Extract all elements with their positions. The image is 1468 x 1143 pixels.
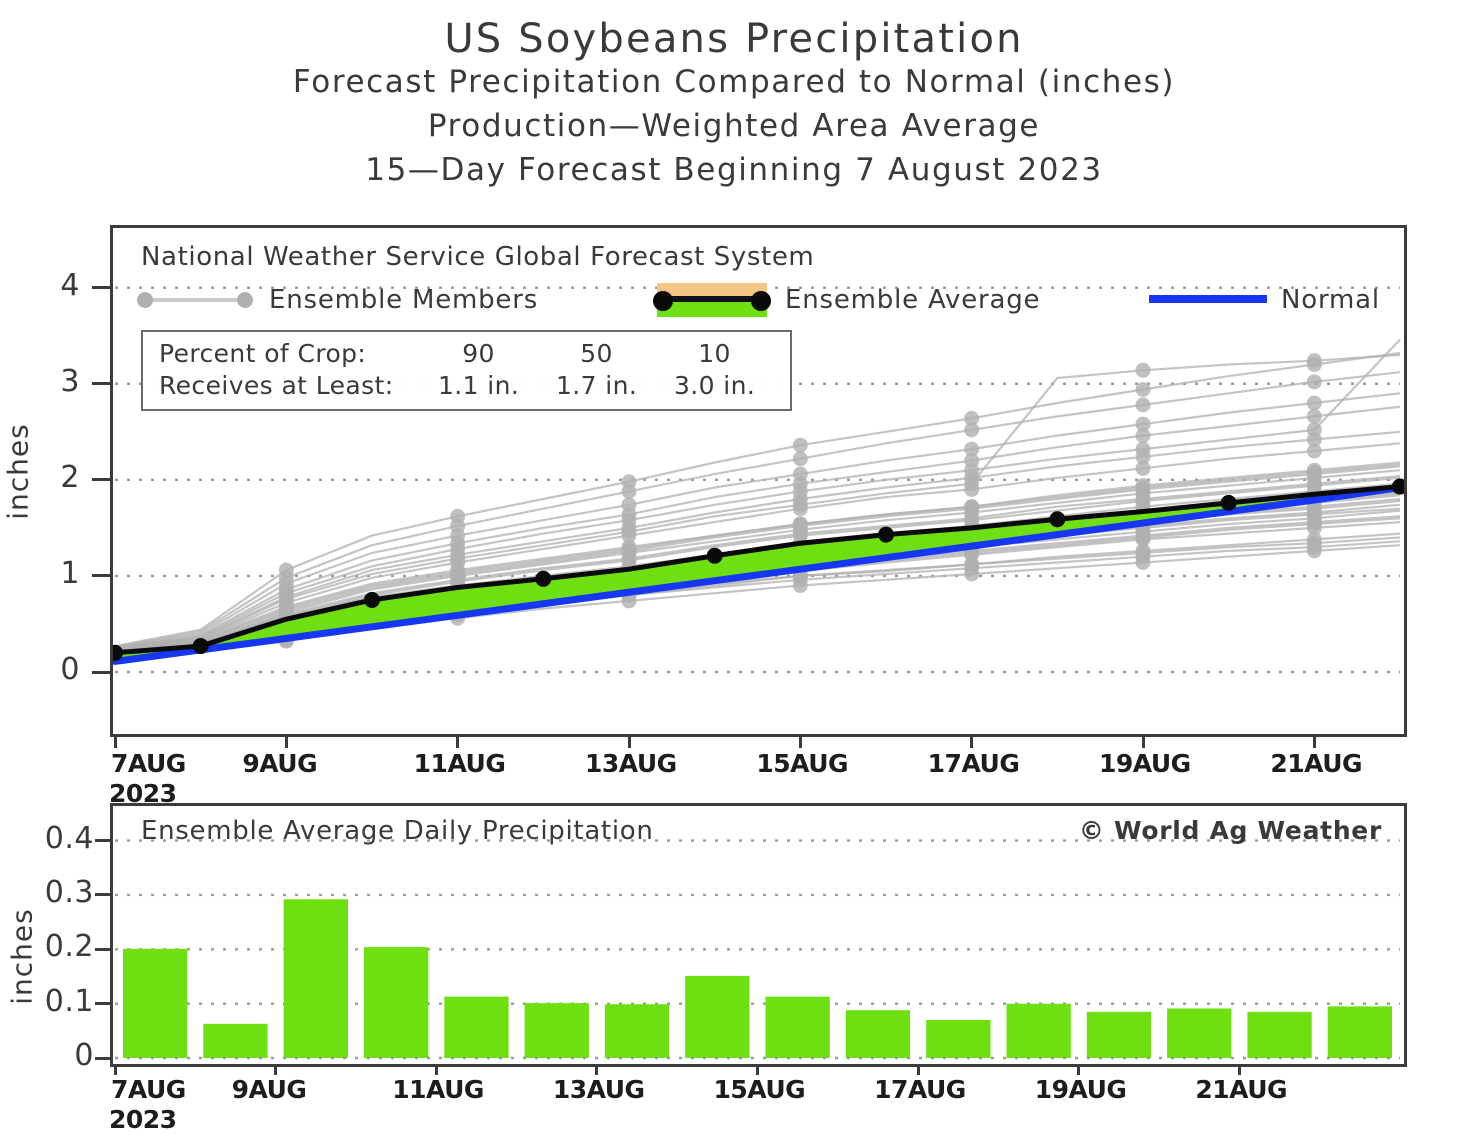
legend-source-label: National Weather Service Global Forecast… — [141, 242, 814, 272]
legend-label-normal: Normal — [1281, 285, 1380, 315]
legend-label-ensemble-average: Ensemble Average — [785, 285, 1040, 315]
top-y-tick-label: 4 — [24, 268, 80, 303]
top-x-tick-label: 11AUG — [414, 749, 506, 778]
percent-value-2: 10 — [656, 338, 774, 370]
daily-precipitation-chart: Ensemble Average Daily Precipitation © W… — [110, 803, 1407, 1067]
subtitle-line-2: Production—Weighted Area Average — [0, 104, 1468, 148]
copyright-credit: © World Ag Weather — [1079, 816, 1382, 845]
top-y-tick-mark — [92, 671, 110, 674]
percent-value-1: 50 — [538, 338, 656, 370]
bottom-y-tick-label: 0.4 — [2, 821, 94, 856]
bottom-chart-title: Ensemble Average Daily Precipitation — [141, 816, 654, 846]
page-title: US Soybeans Precipitation — [0, 18, 1468, 60]
bottom-y-tick-label: 0 — [2, 1038, 94, 1073]
amount-value-0: 1.1 in. — [420, 370, 538, 402]
bottom-x-tick-label: 19AUG — [1035, 1075, 1127, 1104]
top-x-tick-label: 7AUG — [111, 749, 186, 778]
bottom-y-tick-label: 0.2 — [2, 929, 94, 964]
normal-line-icon — [1149, 295, 1267, 305]
ensemble-members-line-icon — [137, 288, 255, 312]
top-y-tick-label: 1 — [24, 556, 80, 591]
bottom-x-tick-label: 17AUG — [874, 1075, 966, 1104]
bottom-x-tick-label: 11AUG — [392, 1075, 484, 1104]
bottom-x-axis-year-label: 2023 — [109, 1105, 177, 1134]
bottom-x-tick-label: 7AUG — [111, 1075, 186, 1104]
bottom-y-tick-label: 0.1 — [2, 984, 94, 1019]
chart-title-block: US Soybeans Precipitation Forecast Preci… — [0, 0, 1468, 192]
bottom-y-tick-label: 0.3 — [2, 875, 94, 910]
top-y-tick-label: 2 — [24, 460, 80, 495]
bottom-y-tick-mark — [95, 1057, 110, 1060]
amount-value-2: 3.0 in. — [656, 370, 774, 402]
top-x-tick-label: 9AUG — [242, 749, 317, 778]
bottom-x-tick-label: 21AUG — [1195, 1075, 1287, 1104]
bottom-x-tick-label: 15AUG — [714, 1075, 806, 1104]
top-y-tick-mark — [92, 574, 110, 577]
top-y-tick-mark — [92, 286, 110, 289]
top-y-tick-label: 3 — [24, 364, 80, 399]
legend-label-ensemble-members: Ensemble Members — [269, 285, 538, 315]
top-x-tick-label: 13AUG — [585, 749, 677, 778]
top-x-tick-label: 15AUG — [756, 749, 848, 778]
subtitle-line-1: Forecast Precipitation Compared to Norma… — [0, 60, 1468, 104]
top-x-tick-label: 21AUG — [1270, 749, 1362, 778]
receives-at-least-label: Receives at Least: — [159, 370, 420, 402]
bottom-x-tick-label: 9AUG — [232, 1075, 307, 1104]
top-y-tick-mark — [92, 382, 110, 385]
legend-item-normal: Normal — [1149, 280, 1380, 320]
top-y-tick-label: 0 — [24, 652, 80, 687]
legend-item-ensemble-members: Ensemble Members — [137, 280, 538, 320]
top-x-tick-label: 17AUG — [928, 749, 1020, 778]
top-x-tick-label: 19AUG — [1099, 749, 1191, 778]
ensemble-average-line-icon — [653, 283, 771, 317]
table-row: Percent of Crop: 90 50 10 — [159, 338, 774, 370]
subtitle-line-3: 15—Day Forecast Beginning 7 August 2023 — [0, 148, 1468, 192]
legend-item-ensemble-average: Ensemble Average — [653, 280, 1040, 320]
percent-of-crop-table: Percent of Crop: 90 50 10 Receives at Le… — [141, 330, 792, 411]
chart-legend: Ensemble Members Ensemble Average Normal — [137, 280, 1387, 320]
cumulative-precipitation-chart: National Weather Service Global Forecast… — [110, 225, 1407, 737]
bottom-y-tick-mark — [95, 839, 110, 842]
table-row: Receives at Least: 1.1 in. 1.7 in. 3.0 i… — [159, 370, 774, 402]
bottom-x-tick-label: 13AUG — [553, 1075, 645, 1104]
top-y-tick-mark — [92, 478, 110, 481]
percent-value-0: 90 — [420, 338, 538, 370]
bottom-y-tick-mark — [95, 948, 110, 951]
percent-of-crop-label: Percent of Crop: — [159, 338, 420, 370]
bottom-y-tick-mark — [95, 893, 110, 896]
amount-value-1: 1.7 in. — [538, 370, 656, 402]
bottom-y-tick-mark — [95, 1002, 110, 1005]
